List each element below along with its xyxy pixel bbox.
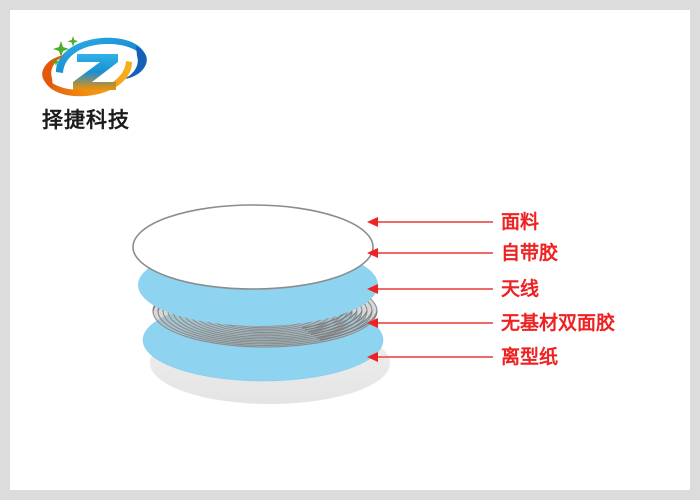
callout-arrow-icon — [365, 317, 493, 329]
callout-label-antenna: 天线 — [501, 280, 539, 299]
brand-wordmark: 择捷科技 — [42, 104, 152, 134]
layer-fabric — [133, 205, 373, 289]
callout-release-paper: 离型纸 — [365, 344, 558, 370]
image-canvas: 择捷科技 — [10, 10, 690, 490]
ze-jie-z-swoosh-logo-icon — [40, 32, 150, 102]
callout-label-fabric: 面料 — [501, 213, 539, 232]
page-root: 择捷科技 — [0, 0, 700, 500]
callout-antenna: 天线 — [365, 276, 539, 302]
callout-arrow-icon — [365, 351, 493, 363]
logo-z-letter — [73, 54, 118, 90]
brand-logo: 择捷科技 — [40, 32, 170, 144]
callout-arrow-icon — [365, 283, 493, 295]
callout-label-double-sided-tape: 无基材双面胶 — [501, 314, 615, 333]
callout-self-adhesive: 自带胶 — [365, 240, 558, 266]
callout-label-release-paper: 离型纸 — [501, 348, 558, 367]
callout-arrow-icon — [365, 247, 493, 259]
callout-arrow-icon — [365, 216, 493, 228]
callout-fabric: 面料 — [365, 209, 539, 235]
callout-double-sided-tape: 无基材双面胶 — [365, 310, 615, 336]
callout-label-self-adhesive: 自带胶 — [501, 244, 558, 263]
